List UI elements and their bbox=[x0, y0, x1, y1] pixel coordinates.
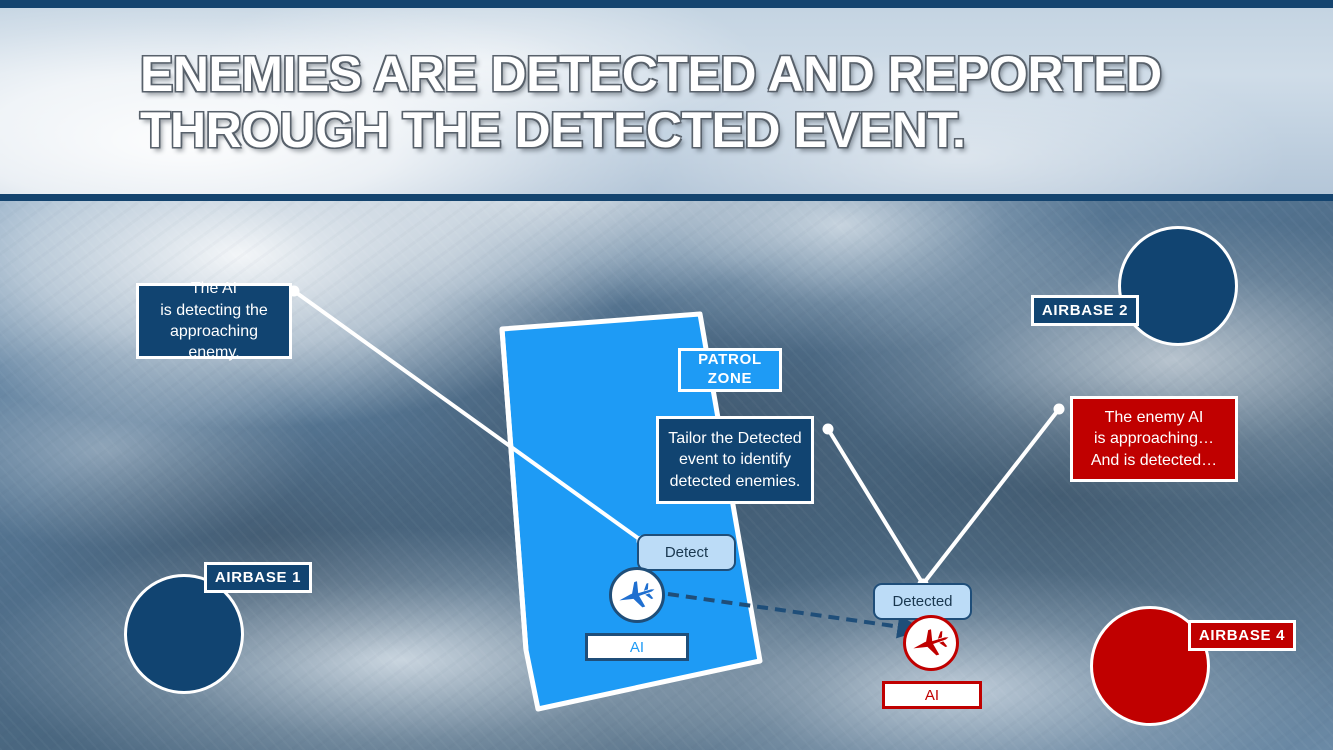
slide-canvas: Enemies are detected and reported throug… bbox=[0, 0, 1333, 750]
enemy-ai-plate: AI bbox=[882, 681, 982, 709]
airbase-1-label: AIRBASE 1 bbox=[204, 562, 312, 593]
friendly-ai-plate: AI bbox=[585, 633, 689, 661]
patrol-zone-label: PATROL ZONE bbox=[678, 348, 782, 392]
top-accent-strip bbox=[0, 0, 1333, 8]
fighter-jet-icon bbox=[616, 574, 658, 616]
enemy-jet-badge[interactable] bbox=[903, 615, 959, 671]
header-divider-rule bbox=[0, 194, 1333, 201]
airbase-4-label: AIRBASE 4 bbox=[1188, 620, 1296, 651]
leader-line-enemy-approach bbox=[923, 409, 1059, 584]
detect-event-bubble[interactable]: Detect bbox=[637, 534, 736, 571]
airbase-2-label: AIRBASE 2 bbox=[1031, 295, 1139, 326]
friendly-jet-badge[interactable] bbox=[609, 567, 665, 623]
leader-line-tailor-detect bbox=[828, 429, 923, 584]
note-tailor-detected-event: Tailor the Detected event to identify de… bbox=[656, 416, 814, 504]
leader-dot-tailor-detect bbox=[823, 424, 834, 435]
leader-dot-enemy-approach bbox=[1054, 404, 1065, 415]
fighter-jet-icon bbox=[910, 622, 952, 664]
page-title: Enemies are detected and reported throug… bbox=[140, 46, 1260, 158]
detected-event-bubble[interactable]: Detected bbox=[873, 583, 972, 620]
note-ai-detecting: The AI is detecting the approaching enem… bbox=[136, 283, 292, 359]
airbase-2-circle[interactable] bbox=[1118, 226, 1238, 346]
note-enemy-approaching: The enemy AI is approaching… And is dete… bbox=[1070, 396, 1238, 482]
